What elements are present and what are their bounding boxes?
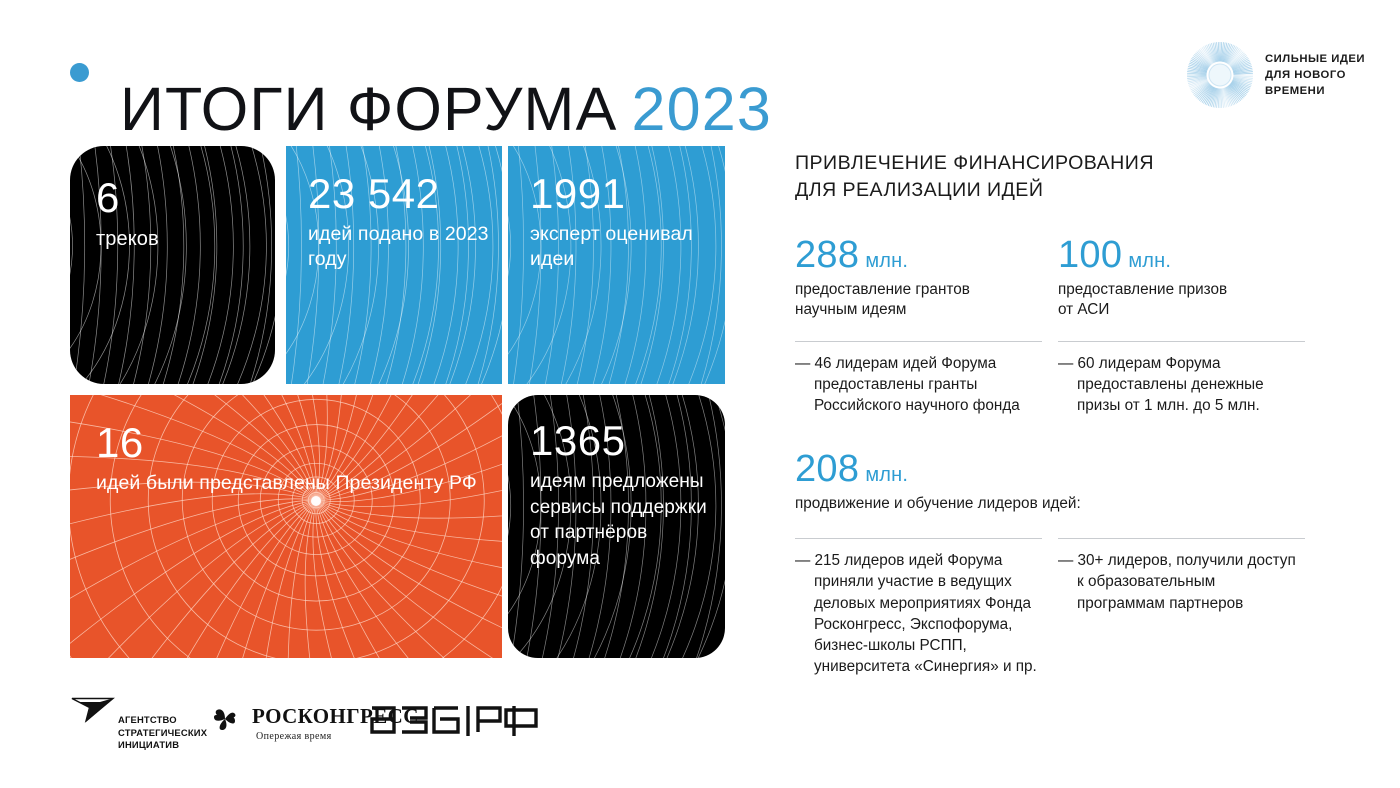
financing-caption: предоставление грантов научным идеям bbox=[795, 280, 1042, 321]
financing-amount-value: 100 bbox=[1058, 234, 1122, 276]
stat-value: 1991 bbox=[530, 172, 713, 216]
financing-amount: 208млн. bbox=[795, 450, 1325, 488]
financing-bullet: — 215 лидеров идей Форума приняли участи… bbox=[795, 538, 1042, 677]
financing-caption: продвижение и обучение лидеров идей: bbox=[795, 494, 1325, 514]
stat-card-president: 16 идей были представлены Президенту РФ bbox=[70, 395, 502, 658]
page-header: ИТОГИ ФОРУМА2023 СИЛЬНЫЕ ИДЕИ ДЛЯ НОВОГО… bbox=[0, 0, 1400, 130]
partner-logos: АГЕНТСТВО СТРАТЕГИЧЕСКИХ ИНИЦИАТИВ РОСКО… bbox=[70, 694, 630, 754]
stat-card-grid: 6 треков 23 542 идей подано в 2023 году … bbox=[70, 146, 725, 658]
financing-section-header: ПРИВЛЕЧЕНИЕ ФИНАНСИРОВАНИЯ ДЛЯ РЕАЛИЗАЦИ… bbox=[795, 150, 1315, 204]
stat-card-experts: 1991 эксперт оценивал идеи bbox=[508, 146, 725, 384]
stat-label: треков bbox=[96, 226, 259, 252]
logo-asi: АГЕНТСТВО СТРАТЕГИЧЕСКИХ ИНИЦИАТИВ bbox=[70, 696, 200, 748]
stat-value: 23 542 bbox=[308, 172, 490, 216]
infographic-page: ИТОГИ ФОРУМА2023 СИЛЬНЫЕ ИДЕИ ДЛЯ НОВОГО… bbox=[0, 0, 1400, 788]
pinwheel-icon bbox=[210, 704, 240, 734]
financing-amount-unit: млн. bbox=[1128, 250, 1171, 272]
financing-row-bottom: — 215 лидеров идей Форума приняли участи… bbox=[795, 538, 1325, 677]
financing-item-promotion: 208млн. продвижение и обучение лидеров и… bbox=[795, 450, 1325, 677]
financing-item-prizes: 100млн. предоставление призов от АСИ — 6… bbox=[1058, 236, 1305, 416]
financing-bullet-col-left: — 215 лидеров идей Форума приняли участи… bbox=[795, 538, 1042, 677]
financing-heading: ПРИВЛЕЧЕНИЕ ФИНАНСИРОВАНИЯ ДЛЯ РЕАЛИЗАЦИ… bbox=[795, 150, 1315, 204]
financing-item-grants: 288млн. предоставление грантов научным и… bbox=[795, 236, 1042, 416]
financing-figures: 288млн. предоставление грантов научным и… bbox=[795, 236, 1325, 677]
financing-row-top: 288млн. предоставление грантов научным и… bbox=[795, 236, 1325, 416]
financing-caption: предоставление призов от АСИ bbox=[1058, 280, 1305, 321]
financing-bullet: — 30+ лидеров, получили доступ к образов… bbox=[1058, 538, 1305, 613]
financing-amount: 288млн. bbox=[795, 236, 1042, 274]
stat-label: идей подано в 2023 году bbox=[308, 222, 490, 273]
page-title: ИТОГИ ФОРУМА2023 bbox=[120, 79, 772, 140]
stat-label: эксперт оценивал идеи bbox=[530, 222, 713, 273]
financing-bullet: — 46 лидерам идей Форума предоставлены г… bbox=[795, 341, 1042, 416]
logo-vebrf bbox=[368, 704, 548, 740]
financing-amount-value: 288 bbox=[795, 234, 859, 276]
financing-bullet-col-right: — 30+ лидеров, получили доступ к образов… bbox=[1058, 538, 1305, 677]
brand-logo: СИЛЬНЫЕ ИДЕИ ДЛЯ НОВОГО ВРЕМЕНИ bbox=[1185, 40, 1385, 118]
asi-arrow-icon bbox=[70, 696, 116, 728]
stat-value: 6 bbox=[96, 176, 259, 220]
financing-amount-unit: млн. bbox=[865, 250, 908, 272]
title-dot-icon bbox=[70, 63, 89, 82]
logo-roscongress-tagline: Опережая время bbox=[256, 731, 332, 742]
stat-label: идеям предложены сервисы поддержки от па… bbox=[530, 469, 711, 572]
financing-bullet: — 60 лидерам Форума предоставлены денежн… bbox=[1058, 341, 1305, 416]
radial-burst-logo-icon bbox=[1185, 40, 1255, 110]
financing-amount: 100млн. bbox=[1058, 236, 1305, 274]
stat-value: 1365 bbox=[530, 419, 711, 463]
stat-card-ideas: 23 542 идей подано в 2023 году bbox=[286, 146, 502, 384]
stat-card-tracks: 6 треков bbox=[70, 146, 275, 384]
financing-amount-unit: млн. bbox=[865, 464, 908, 486]
page-title-main: ИТОГИ ФОРУМА bbox=[120, 75, 617, 143]
page-title-year: 2023 bbox=[631, 75, 772, 143]
veb-rf-wordmark-icon bbox=[368, 704, 548, 738]
brand-name: СИЛЬНЫЕ ИДЕИ ДЛЯ НОВОГО ВРЕМЕНИ bbox=[1265, 51, 1385, 99]
logo-asi-label: АГЕНТСТВО СТРАТЕГИЧЕСКИХ ИНИЦИАТИВ bbox=[118, 714, 207, 752]
stat-value: 16 bbox=[96, 421, 490, 465]
stat-card-services: 1365 идеям предложены сервисы поддержки … bbox=[508, 395, 725, 658]
stat-label: идей были представлены Президенту РФ bbox=[96, 471, 490, 497]
financing-amount-value: 208 bbox=[795, 448, 859, 490]
